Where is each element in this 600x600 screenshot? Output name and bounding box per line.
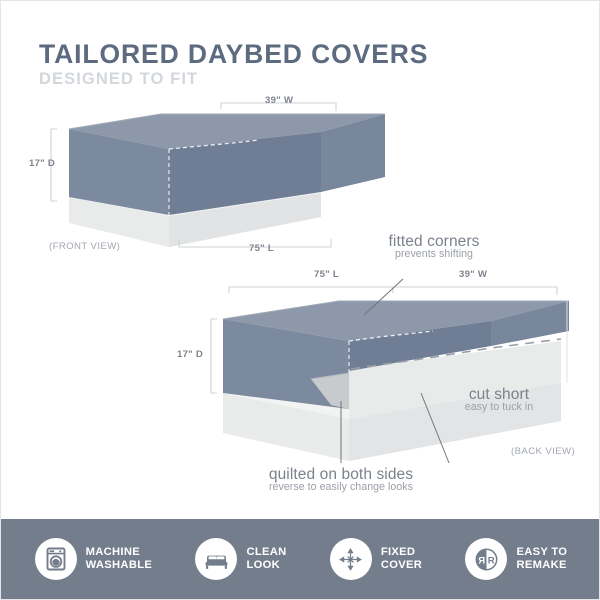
front-view-label: (FRONT VIEW) [49,241,120,252]
back-seam-top [349,331,433,341]
feature-easy-to-remake-label: EASY TO REMAKE [516,546,567,571]
daybed-cover-infographic: TAILORED DAYBED COVERS DESIGNED TO FIT [0,0,600,600]
front-view-illustration [51,103,385,247]
back-dim-width: 39" W [459,269,487,280]
feature-clean-look-label: CLEAN LOOK [246,546,286,571]
front-base-side [169,193,321,247]
diagram-illustrations [1,1,600,600]
svg-text:R: R [488,555,495,566]
back-dim-length: 75" L [314,269,339,280]
callout-quilted: quilted on both sides reverse to easily … [236,467,446,493]
front-cover-top [69,114,385,149]
callout-quilted-subtitle: reverse to easily change looks [236,482,446,493]
front-seam-top [169,140,259,149]
back-view-illustration [211,279,569,463]
back-view-label: (BACK VIEW) [511,446,575,457]
callout-cut-short-subtitle: easy to tuck in [419,402,579,413]
front-dim-depth: 17" D [29,158,55,169]
feature-machine-washable[interactable]: MACHINE WASHABLE [35,538,152,580]
svg-text:R: R [478,555,485,566]
back-bracket-length [229,287,393,293]
back-cover-top [223,301,569,341]
feature-machine-washable-label: MACHINE WASHABLE [86,546,152,571]
front-dim-length: 75" L [249,243,274,254]
back-cover-top-edge [223,301,569,319]
back-corner-flap [311,373,349,409]
four-arrows-icon [330,538,372,580]
front-cover-front-right [169,132,321,215]
front-base-top [69,189,321,216]
callout-fitted-corners: fitted corners prevents shifting [339,234,529,260]
back-cover-front-right-short [349,321,491,371]
header: TAILORED DAYBED COVERS DESIGNED TO FIT [39,41,459,88]
feature-fixed-cover-label: FIXED COVER [381,546,422,571]
callout-cut-short: cut short easy to tuck in [419,387,579,413]
front-cover-top-edge [69,114,385,129]
back-cover-front-left [223,319,349,409]
page-title: TAILORED DAYBED COVERS [39,41,459,69]
back-bracket-depth [211,319,217,393]
back-dim-depth: 17" D [177,349,203,360]
washing-machine-icon [35,538,77,580]
feature-easy-to-remake[interactable]: R R EASY TO REMAKE [465,538,567,580]
front-cover-side [321,114,385,192]
front-cover-front-left [69,129,169,215]
callout-fitted-corners-subtitle: prevents shifting [339,249,529,260]
back-bracket-width [393,287,557,295]
back-corner-flap-edge [311,373,349,379]
reversible-rr-icon: R R [465,538,507,580]
page-subtitle: DESIGNED TO FIT [39,70,459,88]
bed-icon [195,538,237,580]
back-cut-short-hemline [351,339,561,369]
front-dim-width: 39" W [265,95,293,106]
feature-bar: MACHINE WASHABLE CLEAN LOOK [1,519,600,599]
front-base-front [69,193,321,247]
back-cover-side-short [491,301,569,346]
feature-fixed-cover[interactable]: FIXED COVER [330,538,422,580]
feature-clean-look[interactable]: CLEAN LOOK [195,538,286,580]
leader-fitted-corners [364,279,403,315]
